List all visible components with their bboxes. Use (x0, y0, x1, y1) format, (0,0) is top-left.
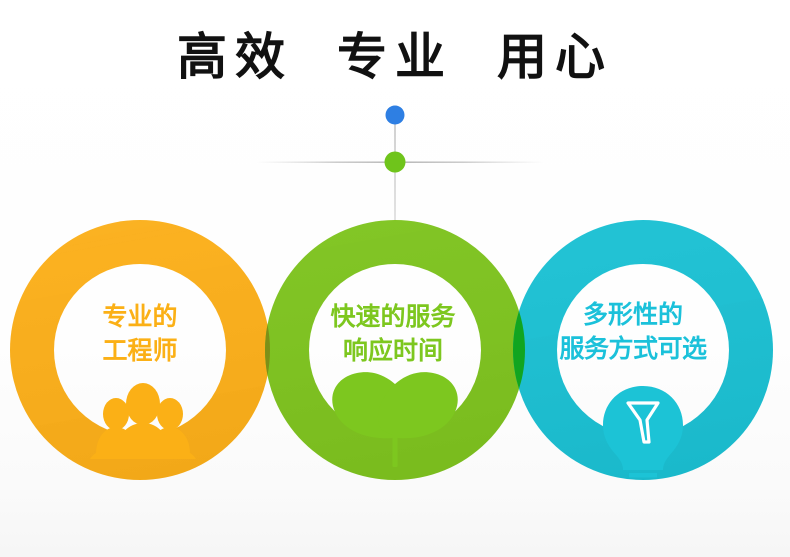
circle-label-response: 快速的服务 响应时间 (288, 300, 498, 368)
circle-label-options-line2: 服务方式可选 (518, 332, 748, 366)
circle-label-response-line1: 快速的服务 (288, 300, 498, 334)
circle-label-options: 多形性的 服务方式可选 (518, 298, 748, 366)
venn-diagram (0, 0, 790, 557)
circle-label-response-line2: 响应时间 (288, 334, 498, 368)
poster-canvas: 高效专业用心 (0, 0, 790, 557)
circle-label-options-line1: 多形性的 (518, 298, 748, 332)
circle-label-engineers-line1: 专业的 (40, 300, 240, 334)
circle-label-engineers-line2: 工程师 (40, 334, 240, 368)
circle-label-engineers: 专业的 工程师 (40, 300, 240, 368)
overlap-green-cyan (0, 0, 790, 557)
